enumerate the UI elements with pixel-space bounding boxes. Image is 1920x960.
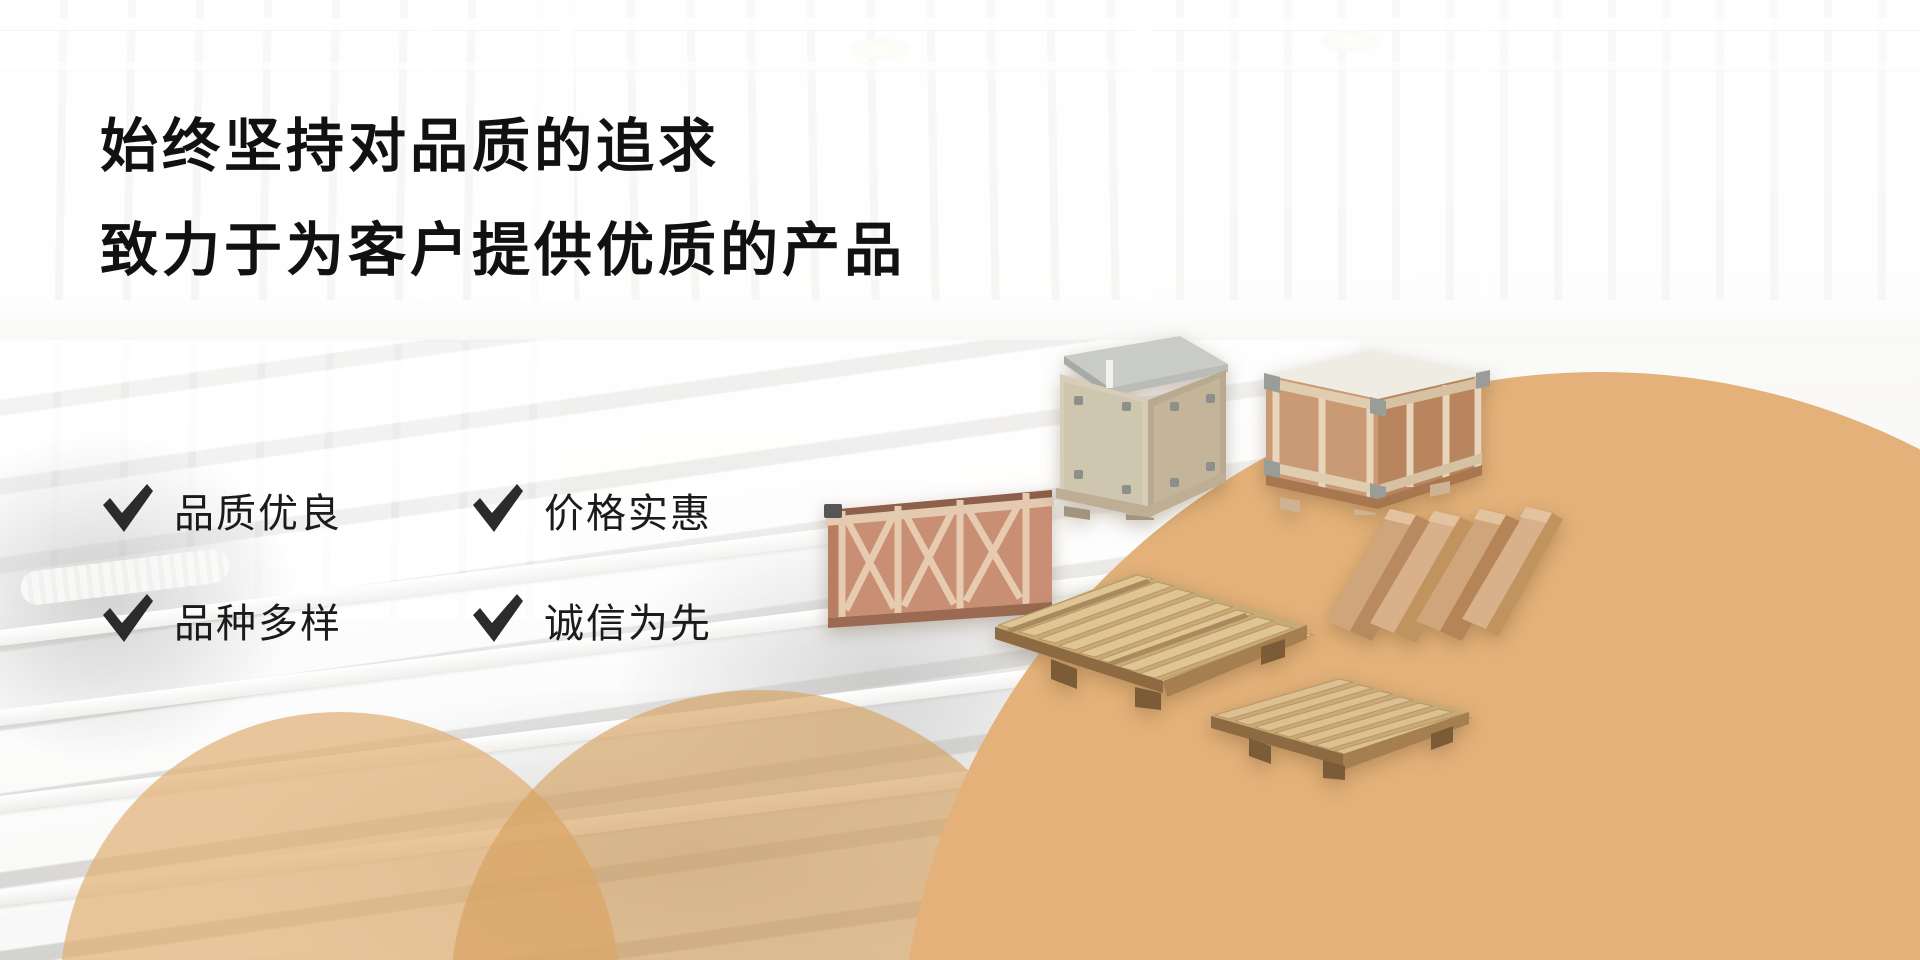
feature-item-variety: 品种多样 [100, 565, 470, 675]
promo-banner: 始终坚持对品质的追求 致力于为客户提供优质的产品 品质优良 价格实惠 [0, 0, 1920, 960]
feature-label: 品种多样 [174, 591, 342, 649]
product-wooden-pallet-small [1205, 670, 1475, 780]
feature-item-quality: 品质优良 [100, 455, 470, 565]
headline-line-2: 致力于为客户提供优质的产品 [100, 222, 1060, 280]
product-plywood-shipping-crate [1250, 335, 1495, 515]
feature-label: 诚信为先 [544, 591, 712, 649]
check-icon [100, 482, 156, 538]
check-icon [100, 592, 156, 648]
feature-label: 品质优良 [174, 481, 342, 539]
product-plywood-box-steel-edge [1030, 330, 1235, 520]
feature-list: 品质优良 价格实惠 品种多样 诚信为先 [100, 455, 840, 675]
check-icon [470, 482, 526, 538]
check-icon [470, 592, 526, 648]
feature-item-price: 价格实惠 [470, 455, 840, 565]
headline-line-1: 始终坚持对品质的追求 [100, 118, 1060, 176]
feature-label: 价格实惠 [544, 481, 712, 539]
headline-block: 始终坚持对品质的追求 致力于为客户提供优质的产品 [100, 118, 1060, 280]
feature-item-integrity: 诚信为先 [470, 565, 840, 675]
product-paper-corner-protector [1320, 505, 1565, 645]
